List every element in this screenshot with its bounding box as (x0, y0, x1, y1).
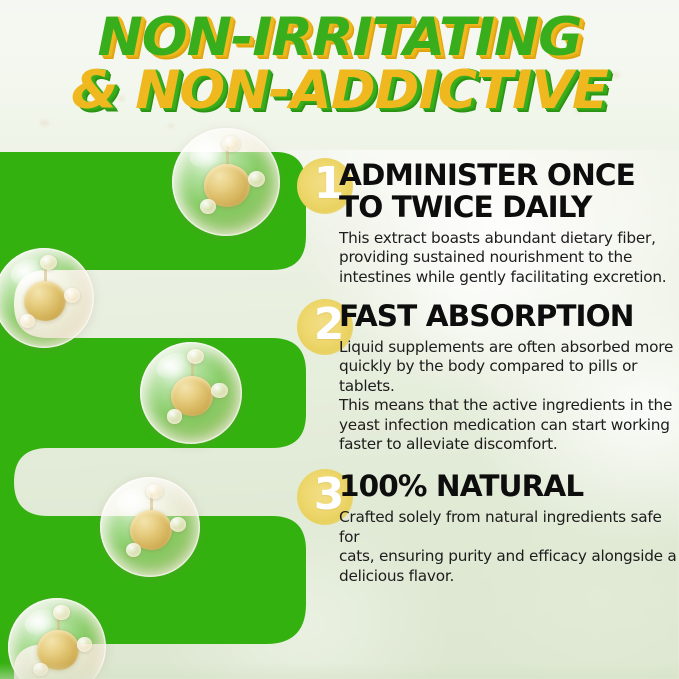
headline-line-2: & NON-ADDICTIVE (0, 67, 679, 116)
background-speck (40, 120, 49, 126)
feature-item-1: 1 ADMINISTER ONCE TO TWICE DAILY This ex… (297, 160, 679, 287)
feature-body-line: Crafted solely from natural ingredients … (339, 508, 679, 547)
feature-body-line: quickly by the body compared to pills or… (339, 357, 679, 396)
feature-body-line: yeast infection medication can start wor… (339, 416, 679, 435)
headline-line-1: NON-IRRITATING (0, 14, 679, 63)
background-speck (168, 124, 174, 128)
feature-body-3: Crafted solely from natural ingredients … (297, 508, 679, 586)
feature-item-3: 3 100% NATURAL Crafted solely from natur… (297, 471, 679, 586)
bottom-gradient-band (0, 663, 679, 679)
feature-heading-3-line-1: 100% NATURAL (339, 469, 583, 503)
feature-body-line: providing sustained nourishment to the (339, 248, 679, 267)
feature-heading-2-line-1: FAST ABSORPTION (339, 299, 634, 333)
feature-item-2: 2 FAST ABSORPTION Liquid supplements are… (297, 301, 679, 454)
headline: NON-IRRITATING & NON-ADDICTIVE (0, 14, 679, 116)
feature-heading-2: FAST ABSORPTION (297, 301, 679, 333)
feature-list: 1 ADMINISTER ONCE TO TWICE DAILY This ex… (297, 152, 679, 679)
feature-heading-1-line-1: ADMINISTER ONCE (339, 158, 635, 192)
bubble-rim (140, 342, 242, 444)
feature-heading-1-line-2: TO TWICE DAILY (339, 192, 679, 224)
feature-body-line: Liquid supplements are often absorbed mo… (339, 338, 679, 357)
feature-body-line: delicious flavor. (339, 567, 679, 586)
feature-body-line: This extract boasts abundant dietary fib… (339, 229, 679, 248)
bubble-rim (172, 128, 280, 236)
feature-body-line: faster to alleviate discomfort. (339, 435, 679, 454)
feature-body-2: Liquid supplements are often absorbed mo… (297, 338, 679, 455)
oil-bubble-4 (100, 477, 200, 577)
infographic-page: NON-IRRITATING & NON-ADDICTIVE (0, 0, 679, 679)
feature-heading-3: 100% NATURAL (297, 471, 679, 503)
feature-body-line: cats, ensuring purity and efficacy along… (339, 547, 679, 566)
feature-body-line: This means that the active ingredients i… (339, 396, 679, 415)
feature-body-1: This extract boasts abundant dietary fib… (297, 229, 679, 287)
oil-bubble-1 (172, 128, 280, 236)
feature-body-line: intestines while gently facilitating exc… (339, 268, 679, 287)
feature-heading-1: ADMINISTER ONCE TO TWICE DAILY (297, 160, 679, 224)
bubble-rim (100, 477, 200, 577)
oil-bubble-3 (140, 342, 242, 444)
